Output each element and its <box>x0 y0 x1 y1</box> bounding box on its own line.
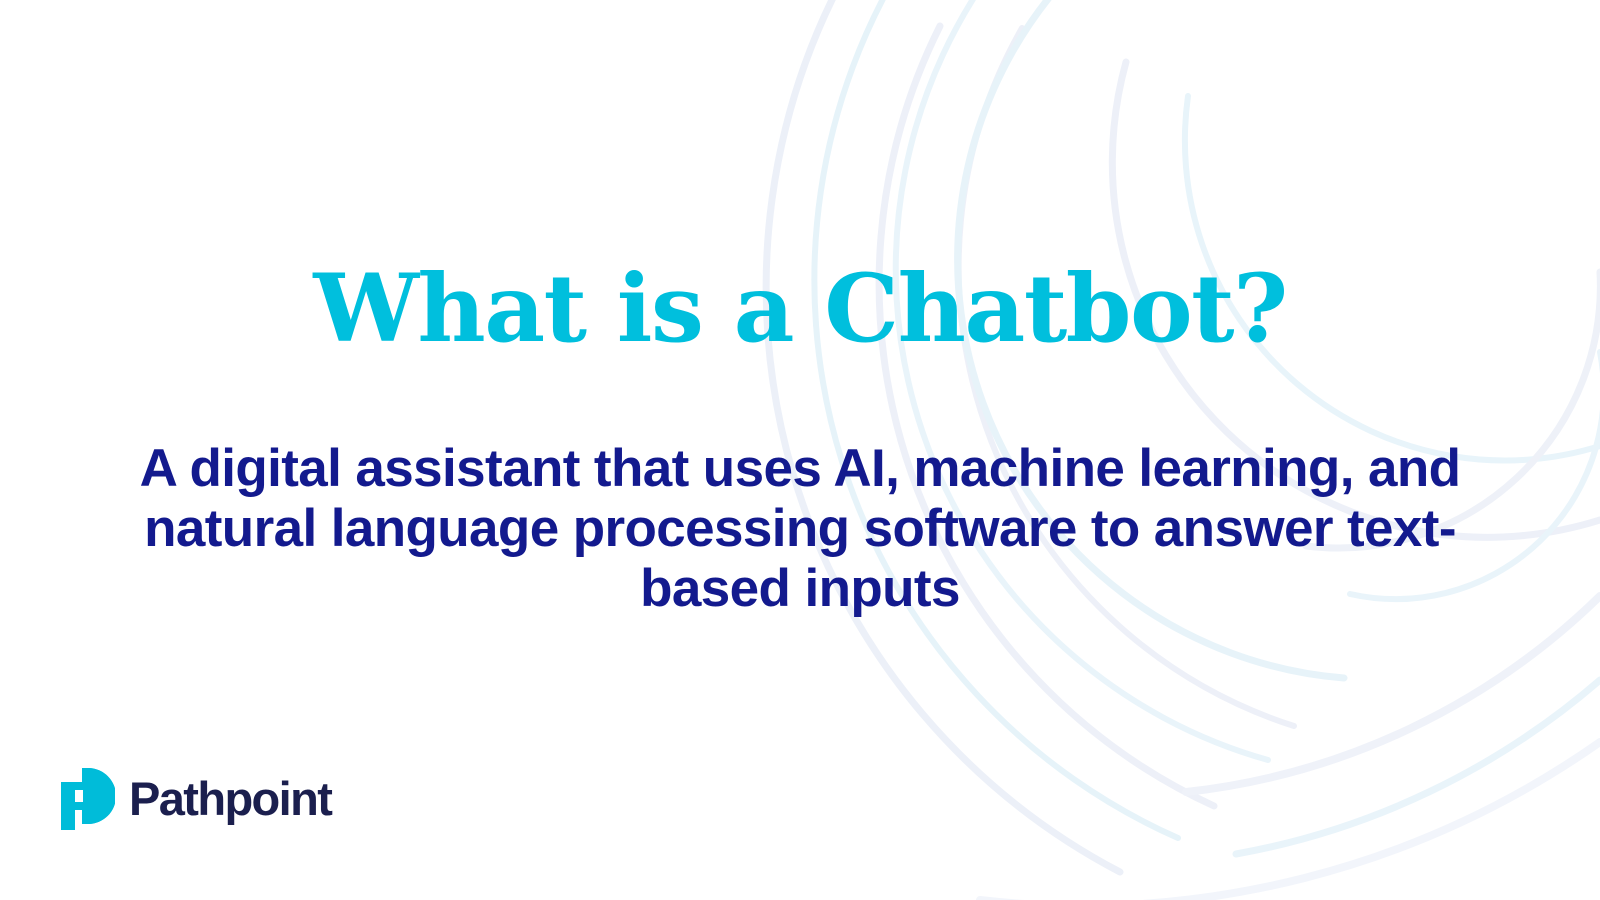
pathpoint-p-mark-icon <box>55 766 115 832</box>
pathpoint-wordmark: Pathpoint <box>129 775 331 824</box>
slide-canvas: What is a Chatbot? A digital assistant t… <box>0 0 1600 900</box>
pathpoint-logo: Pathpoint <box>55 766 331 832</box>
slide-title: What is a Chatbot? <box>0 259 1600 361</box>
slide-body-text: A digital assistant that uses AI, machin… <box>80 439 1520 619</box>
